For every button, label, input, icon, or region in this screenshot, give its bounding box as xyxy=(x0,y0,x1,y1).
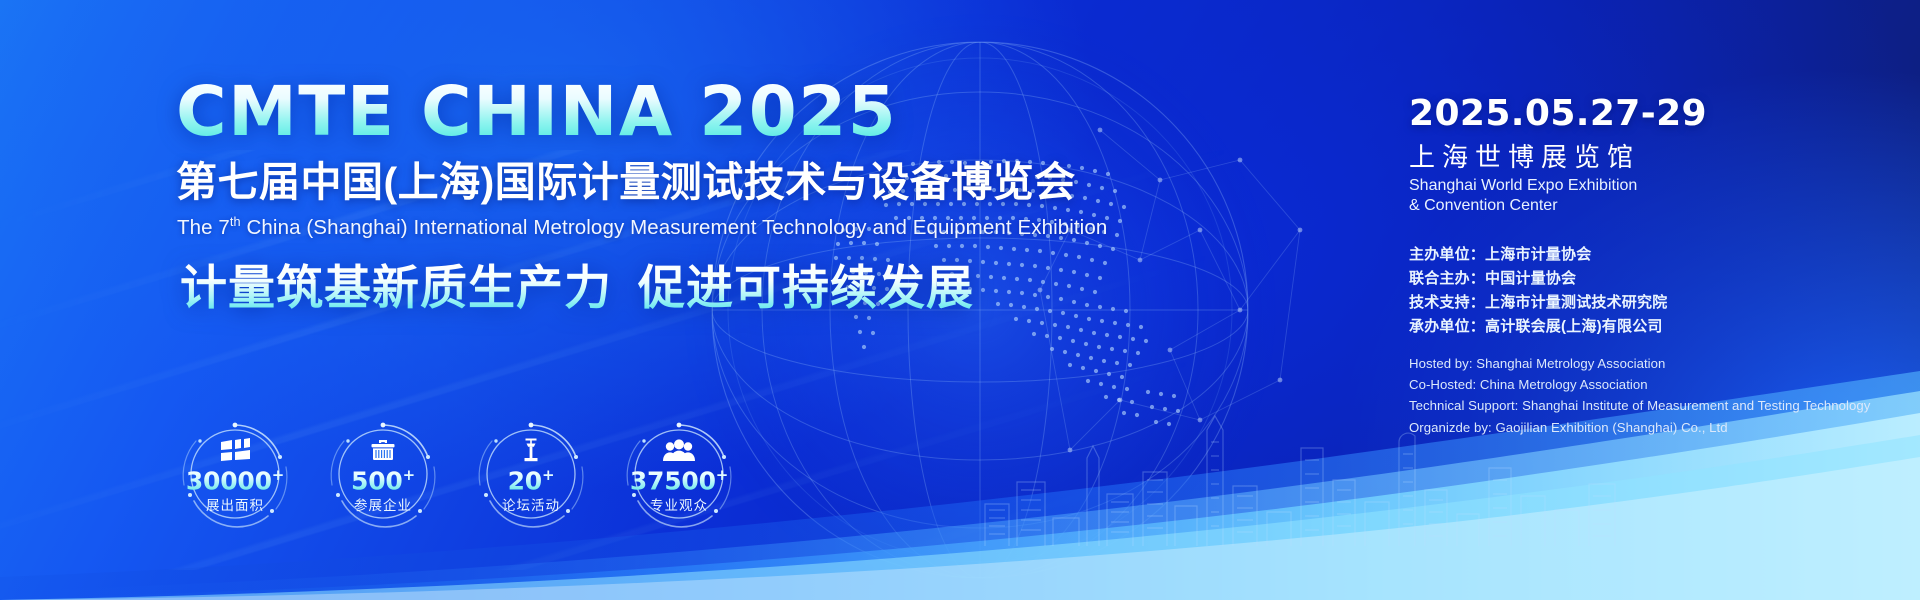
stat-value: 500 xyxy=(351,466,403,495)
stat-number: 37500+ xyxy=(630,468,728,493)
organizer-cn-cohost: 联合主办：中国计量协会 xyxy=(1409,267,1879,291)
stat-plus: + xyxy=(272,466,284,484)
stat-item-forums: 20+ 论坛活动 xyxy=(472,415,590,533)
stat-label: 论坛活动 xyxy=(502,499,560,513)
stat-value: 30000 xyxy=(186,466,272,495)
venue-en-line-1: Shanghai World Expo Exhibition xyxy=(1409,176,1879,196)
stat-plus: + xyxy=(542,466,554,484)
stat-content: 20+ 论坛活动 xyxy=(502,435,560,513)
right-info-block: 2025.05.27-29 上海世博展览馆 Shanghai World Exp… xyxy=(1409,96,1879,438)
stat-content: 500+ 参展企业 xyxy=(351,435,415,513)
stat-value: 20 xyxy=(508,466,542,495)
venue-name-chinese: 上海世博展览馆 xyxy=(1409,143,1879,172)
english-title-prefix: The 7 xyxy=(177,216,230,239)
slogan-part-one: 计量筑基新质生产力 xyxy=(180,261,612,314)
stat-label: 展出面积 xyxy=(186,499,284,513)
slogan: 计量筑基新质生产力促进可持续发展 xyxy=(180,262,974,314)
organizer-cn-host: 主办单位：上海市计量协会 xyxy=(1409,243,1879,267)
page-title: CMTE CHINA 2025 xyxy=(176,78,897,147)
organizer-en-organizer: Organizde by: Gaojilian Exhibition (Shan… xyxy=(1409,417,1879,438)
organizer-cn-technical: 技术支持：上海市计量测试技术研究院 xyxy=(1409,291,1879,315)
organizer-en-host: Hosted by: Shanghai Metrology Associatio… xyxy=(1409,353,1879,374)
stat-number: 30000+ xyxy=(186,468,284,493)
organizer-cn-organizer: 承办单位：高计联会展(上海)有限公司 xyxy=(1409,315,1879,339)
english-title: The 7th China (Shanghai) International M… xyxy=(177,214,1306,240)
stat-plus: + xyxy=(403,466,415,484)
audience-icon xyxy=(630,437,728,462)
stat-content: 37500+ 专业观众 xyxy=(630,435,728,513)
organizers-english-list: Hosted by: Shanghai Metrology Associatio… xyxy=(1409,353,1879,439)
stat-value: 37500 xyxy=(630,466,716,495)
stat-item-exhibition-area: 30000+ 展出面积 xyxy=(176,415,294,533)
left-content-block: CMTE CHINA 2025 第七届中国(上海)国际计量测试技术与设备博览会 … xyxy=(176,78,1306,314)
briefcase-icon xyxy=(351,437,415,462)
event-dates: 2025.05.27-29 xyxy=(1409,96,1879,132)
organizer-en-technical: Technical Support: Shanghai Institute of… xyxy=(1409,395,1879,416)
podium-icon xyxy=(502,437,560,462)
venue-name-english: Shanghai World Expo Exhibition & Convent… xyxy=(1409,176,1879,217)
stat-number: 20+ xyxy=(508,468,555,493)
stat-label: 参展企业 xyxy=(351,499,415,513)
chinese-title: 第七届中国(上海)国际计量测试技术与设备博览会 xyxy=(176,160,1306,206)
stat-label: 专业观众 xyxy=(630,499,728,513)
exhibition-banner: CMTE CHINA 2025 第七届中国(上海)国际计量测试技术与设备博览会 … xyxy=(0,0,1920,600)
slogan-part-two: 促进可持续发展 xyxy=(638,261,974,314)
organizer-en-cohost: Co-Hosted: China Metrology Association xyxy=(1409,374,1879,395)
stat-number: 500+ xyxy=(351,468,415,493)
stat-item-visitors: 37500+ 专业观众 xyxy=(620,415,738,533)
stat-content: 30000+ 展出面积 xyxy=(186,435,284,513)
ordinal-suffix: th xyxy=(230,214,241,229)
venue-en-line-2: & Convention Center xyxy=(1409,196,1879,216)
stat-item-exhibitors: 500+ 参展企业 xyxy=(324,415,442,533)
exhibition-area-icon xyxy=(186,437,284,462)
statistics-row: 30000+ 展出面积 xyxy=(176,415,738,533)
stat-plus: + xyxy=(716,466,728,484)
english-title-rest: China (Shanghai) International Metrology… xyxy=(241,216,1108,239)
organizers-chinese-list: 主办单位：上海市计量协会 联合主办：中国计量协会 技术支持：上海市计量测试技术研… xyxy=(1409,243,1879,340)
